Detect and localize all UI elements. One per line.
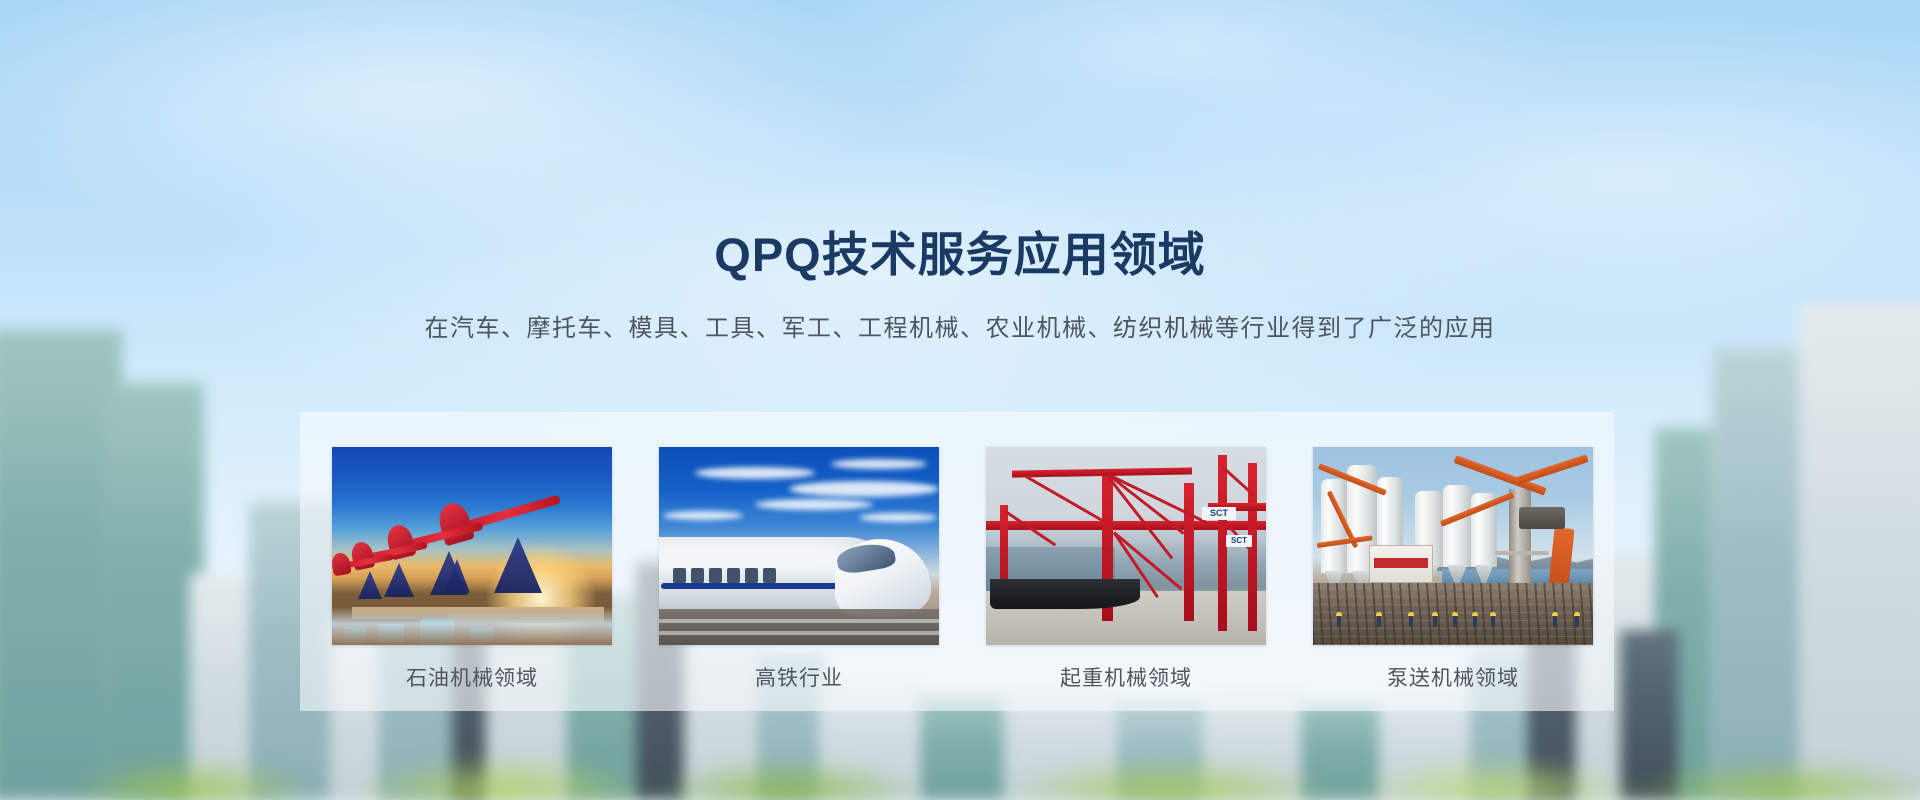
high-speed-train-photo[interactable] — [659, 447, 939, 645]
snowy-ground — [332, 607, 612, 645]
placing-boom-segment — [1516, 454, 1589, 484]
application-fields-banner: QPQ技术服务应用领域 在汽车、摩托车、模具、工具、军工、工程机械、农业机械、纺… — [0, 0, 1920, 800]
application-card-pump[interactable]: 泵送机械领域 — [1313, 447, 1593, 692]
site-signboard — [1369, 545, 1433, 583]
foreground-greenery — [0, 722, 1920, 800]
crane-leg — [1184, 483, 1194, 621]
card-label-pump: 泵送机械领域 — [1313, 662, 1593, 692]
application-cards-panel: 石油机械领域 — [300, 412, 1614, 711]
port-gantry-cranes-photo[interactable]: SCT SCT — [986, 447, 1266, 645]
cement-silo — [1443, 485, 1471, 567]
pump-tower — [1509, 489, 1531, 593]
application-card-oil[interactable]: 石油机械领域 — [332, 447, 612, 692]
card-label-rail: 高铁行业 — [659, 662, 939, 692]
application-card-crane[interactable]: SCT SCT — [986, 447, 1266, 692]
application-cards-list: 石油机械领域 — [332, 447, 1593, 692]
application-card-rail[interactable]: 高铁行业 — [659, 447, 939, 692]
crane-marking: SCT — [1226, 535, 1252, 547]
concrete-pumping-photo[interactable] — [1313, 447, 1593, 645]
page-title: QPQ技术服务应用领域 — [0, 228, 1920, 282]
page-subtitle: 在汽车、摩托车、模具、工具、军工、工程机械、农业机械、纺织机械等行业得到了广泛的… — [0, 308, 1920, 343]
crane-marking: SCT — [1202, 507, 1236, 520]
hero-heading-block: QPQ技术服务应用领域 在汽车、摩托车、模具、工具、军工、工程机械、农业机械、纺… — [0, 228, 1920, 343]
operator-platform — [1519, 507, 1565, 529]
pumpjack-small-2 — [334, 551, 396, 599]
container-ship-hull — [990, 579, 1140, 609]
platform-rail — [1495, 551, 1549, 555]
card-label-oil: 石油机械领域 — [332, 662, 612, 692]
card-label-crane: 起重机械领域 — [986, 662, 1266, 692]
railway-track — [659, 609, 939, 645]
oil-pumpjacks-photo[interactable] — [332, 447, 612, 645]
